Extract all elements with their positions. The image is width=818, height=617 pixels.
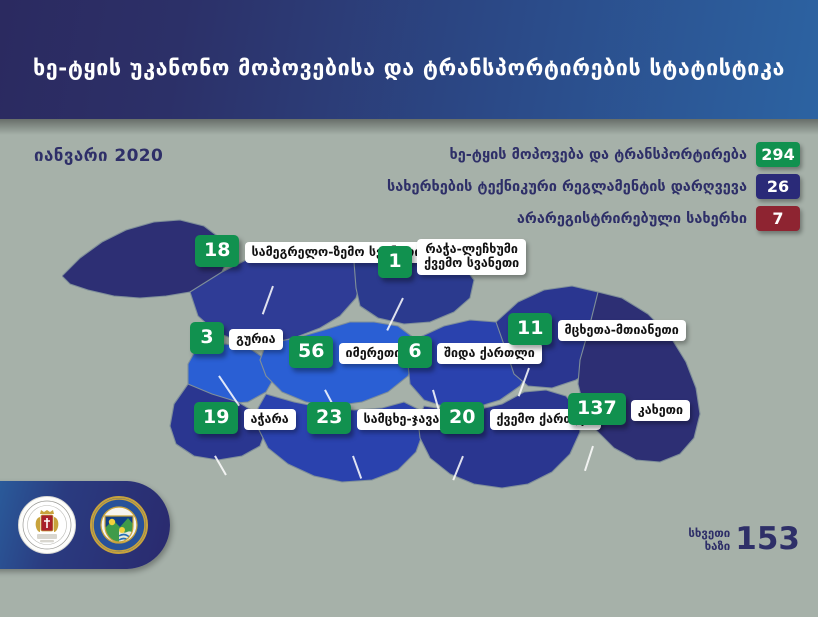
map-marker-value: 23 [307, 402, 351, 434]
map-marker-adjara: 19 აჭარა [194, 402, 296, 434]
map-marker-value: 6 [398, 336, 432, 368]
coat-of-arms-icon [22, 500, 72, 550]
map-marker-racha: 1 რაჭა-ლეჩხუმი ქვემო სვანეთი [378, 235, 526, 278]
map-marker-label: მცხეთა-მთიანეთი [558, 320, 686, 341]
map-marker-value: 18 [195, 235, 239, 267]
page-title: ხე-ტყის უკანონო მოპოვებისა და ტრანსპორტი… [33, 58, 785, 80]
logo-bar [0, 481, 170, 569]
map-marker-value: 11 [508, 313, 552, 345]
map-marker-value: 20 [440, 402, 484, 434]
map-marker-value: 137 [568, 393, 626, 425]
total-summary: სხვეთი ხაზი 153 [688, 524, 800, 555]
map-marker-value: 19 [194, 402, 238, 434]
total-value: 153 [735, 524, 800, 555]
georgia-coat-of-arms-emblem [18, 496, 76, 554]
map-marker-guria: 3 გურია [190, 322, 283, 354]
map-marker-label: კახეთი [631, 400, 690, 421]
map-marker-value: 56 [289, 336, 333, 368]
map-marker-label: შიდა ქართლი [437, 343, 542, 364]
agency-seal-emblem [90, 496, 148, 554]
page-header: ხე-ტყის უკანონო მოპოვებისა და ტრანსპორტი… [0, 0, 818, 119]
map-marker-kakheti: 137 კახეთი [568, 393, 690, 425]
map-marker-imereti: 56 იმერეთი [289, 336, 408, 368]
map-marker-label: რაჭა-ლეჩხუმი ქვემო სვანეთი [417, 239, 526, 275]
map-marker-label: აჭარა [244, 409, 296, 430]
map-marker-value: 3 [190, 322, 224, 354]
map-marker-label: გურია [229, 329, 282, 350]
map-marker-mtskheta: 11 მცხეთა-მთიანეთი [508, 313, 686, 345]
map-marker-value: 1 [378, 246, 412, 278]
agency-seal-icon [92, 498, 146, 552]
total-label: სხვეთი ხაზი [688, 527, 730, 551]
